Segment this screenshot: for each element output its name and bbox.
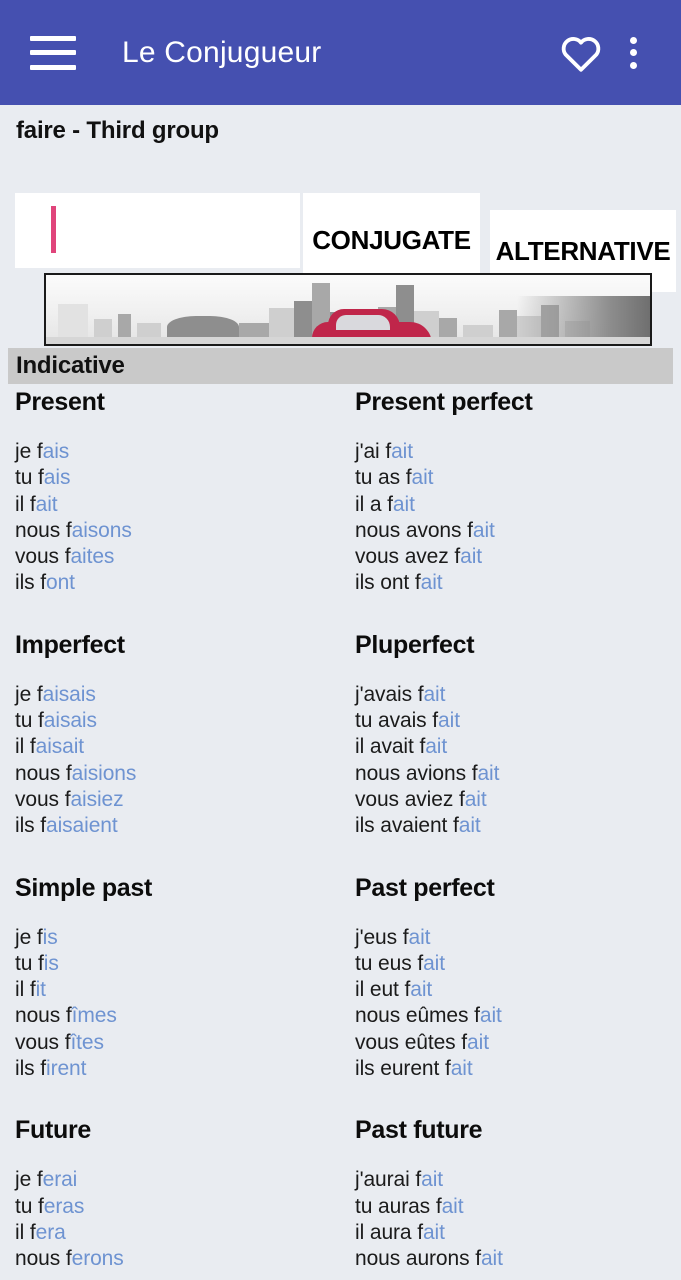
form-ending: ait <box>465 788 487 811</box>
form-stem: ils f <box>15 814 46 837</box>
conjugation-form: tu as fait <box>355 465 680 491</box>
hamburger-line <box>30 65 76 70</box>
form-stem: il f <box>15 493 36 516</box>
form-stem: il a f <box>355 493 393 516</box>
heart-icon <box>559 33 603 73</box>
form-ending: îtes <box>70 1031 103 1054</box>
form-ending: ait <box>423 952 445 975</box>
form-stem: tu f <box>15 466 44 489</box>
form-stem: ils f <box>15 1057 46 1080</box>
form-ending: ait <box>425 735 447 758</box>
conjugation-list: j'eus faittu eus faitil eut faitnous eûm… <box>355 925 680 1083</box>
conjugation-list: je faisaistu faisaisil faisaitnous faisi… <box>15 682 340 840</box>
tense-row: Future je feraitu ferasil feranous feron… <box>0 1116 681 1272</box>
conjugation-form: ils firent <box>15 1056 340 1082</box>
form-ending: ais <box>43 440 70 463</box>
conjugation-form: nous avions fait <box>355 761 680 787</box>
app-title: Le Conjugueur <box>122 36 321 70</box>
search-row: CONJUGATE ALTERNATIVE <box>0 145 681 250</box>
conjugation-form: ils faisaient <box>15 813 340 839</box>
conjugation-form: tu avais fait <box>355 708 680 734</box>
form-stem: nous eûmes f <box>355 1004 480 1027</box>
conjugation-form: nous eûmes fait <box>355 1003 680 1029</box>
kebab-dot <box>630 37 637 44</box>
form-ending: eras <box>44 1195 84 1218</box>
conjugation-form: il faisait <box>15 734 340 760</box>
form-ending: ait <box>481 1247 503 1270</box>
form-ending: irent <box>46 1057 86 1080</box>
form-ending: aisait <box>36 735 84 758</box>
kebab-menu-icon <box>618 35 648 71</box>
form-stem: vous f <box>15 545 70 568</box>
tense-title: Imperfect <box>15 631 340 660</box>
form-ending: ait <box>442 1195 464 1218</box>
tense-block-past-perfect: Past perfect j'eus faittu eus faitil eut… <box>340 874 680 1083</box>
form-stem: il f <box>15 735 36 758</box>
tense-row: Present je faistu faisil faitnous faison… <box>0 388 681 597</box>
block-spacer <box>0 840 681 874</box>
form-ending: aisais <box>44 709 97 732</box>
tense-title: Past perfect <box>355 874 680 903</box>
form-stem: vous f <box>15 788 70 811</box>
block-spacer <box>0 1082 681 1116</box>
tense-title: Past future <box>355 1116 680 1145</box>
form-stem: il f <box>15 978 36 1001</box>
form-stem: vous aviez f <box>355 788 465 811</box>
conjugation-form: je faisais <box>15 682 340 708</box>
form-ending: ait <box>459 814 481 837</box>
conjugation-form: il a fait <box>355 492 680 518</box>
overflow-menu-button[interactable] <box>607 27 659 79</box>
app-bar: Le Conjugueur <box>0 0 681 105</box>
conjugation-form: nous aurons fait <box>355 1246 680 1272</box>
form-stem: je f <box>15 440 43 463</box>
conjugation-form: tu fis <box>15 951 340 977</box>
conjugation-list: j'avais faittu avais faitil avait faitno… <box>355 682 680 840</box>
form-stem: il avait f <box>355 735 425 758</box>
conjugation-form: j'ai fait <box>355 439 680 465</box>
kebab-dot <box>630 49 637 56</box>
tense-block-imperfect: Imperfect je faisaistu faisaisil faisait… <box>0 631 340 840</box>
conjugation-list: je feraitu ferasil feranous ferons <box>15 1167 340 1272</box>
conjugation-form: nous faisions <box>15 761 340 787</box>
form-stem: tu auras f <box>355 1195 442 1218</box>
conjugation-list: j'aurai faittu auras faitil aura faitnou… <box>355 1167 680 1272</box>
form-ending: ait <box>409 926 431 949</box>
form-stem: ils f <box>15 571 46 594</box>
tense-title: Simple past <box>15 874 340 903</box>
conjugation-form: tu feras <box>15 1194 340 1220</box>
form-stem: nous f <box>15 1004 72 1027</box>
form-ending: it <box>36 978 46 1001</box>
form-stem: tu eus f <box>355 952 423 975</box>
form-stem: il eut f <box>355 978 410 1001</box>
form-stem: nous aurons f <box>355 1247 481 1270</box>
form-stem: nous f <box>15 519 72 542</box>
form-ending: ont <box>46 571 75 594</box>
tense-title: Future <box>15 1116 340 1145</box>
conjugation-form: tu fais <box>15 465 340 491</box>
form-ending: ait <box>412 466 434 489</box>
form-stem: j'eus f <box>355 926 409 949</box>
verb-heading: faire - Third group <box>0 105 681 145</box>
tense-row: Simple past je fistu fisil fitnous fîmes… <box>0 874 681 1083</box>
conjugation-form: ils font <box>15 570 340 596</box>
form-stem: ils ont f <box>355 571 421 594</box>
conjugation-list: j'ai faittu as faitil a faitnous avons f… <box>355 439 680 597</box>
conjugation-form: je fis <box>15 925 340 951</box>
conjugation-form: tu auras fait <box>355 1194 680 1220</box>
form-ending: ait <box>460 545 482 568</box>
conjugation-form: ils eurent fait <box>355 1056 680 1082</box>
advertisement-banner[interactable] <box>44 273 652 346</box>
form-stem: tu as f <box>355 466 412 489</box>
kebab-dot <box>630 62 637 69</box>
form-stem: nous f <box>15 762 72 785</box>
hamburger-line <box>30 36 76 41</box>
form-ending: aisiez <box>70 788 123 811</box>
form-ending: aisaient <box>46 814 118 837</box>
conjugation-form: ils avaient fait <box>355 813 680 839</box>
conjugation-form: il fit <box>15 977 340 1003</box>
verb-search-input[interactable] <box>15 193 300 268</box>
conjugation-form: il fait <box>15 492 340 518</box>
conjugation-form: nous avons fait <box>355 518 680 544</box>
form-stem: il aura f <box>355 1221 423 1244</box>
form-stem: je f <box>15 926 43 949</box>
form-stem: ils avaient f <box>355 814 459 837</box>
conjugation-form: il eut fait <box>355 977 680 1003</box>
form-stem: nous f <box>15 1247 72 1270</box>
form-ending: ait <box>36 493 58 516</box>
form-ending: ait <box>451 1057 473 1080</box>
form-ending: ait <box>480 1004 502 1027</box>
conjugation-form: nous fîmes <box>15 1003 340 1029</box>
form-stem: il f <box>15 1221 36 1244</box>
form-stem: j'aurai f <box>355 1168 421 1191</box>
conjugation-form: j'avais fait <box>355 682 680 708</box>
form-ending: aisais <box>43 683 96 706</box>
form-stem: vous avez f <box>355 545 460 568</box>
form-ending: ais <box>44 466 71 489</box>
form-ending: ait <box>423 683 445 706</box>
form-stem: vous f <box>15 1031 70 1054</box>
block-spacer <box>0 597 681 631</box>
tense-title: Pluperfect <box>355 631 680 660</box>
conjugation-form: vous avez fait <box>355 544 680 570</box>
form-ending: erai <box>43 1168 78 1191</box>
ad-ground <box>46 337 650 344</box>
tense-block-past-future: Past future j'aurai faittu auras faitil … <box>340 1116 680 1272</box>
form-ending: ait <box>410 978 432 1001</box>
tense-block-simple-past: Simple past je fistu fisil fitnous fîmes… <box>0 874 340 1083</box>
mood-label: Indicative <box>8 352 125 380</box>
conjugation-form: vous faisiez <box>15 787 340 813</box>
form-stem: je f <box>15 1168 43 1191</box>
tense-block-present: Present je faistu faisil faitnous faison… <box>0 388 340 597</box>
form-ending: ait <box>393 493 415 516</box>
conjugation-form: nous faisons <box>15 518 340 544</box>
form-ending: ait <box>438 709 460 732</box>
tense-title: Present perfect <box>355 388 680 417</box>
form-stem: vous eûtes f <box>355 1031 467 1054</box>
conjugation-form: vous aviez fait <box>355 787 680 813</box>
conjugation-form: j'aurai fait <box>355 1167 680 1193</box>
form-ending: ait <box>391 440 413 463</box>
form-stem: j'avais f <box>355 683 423 706</box>
conjugation-list: je fistu fisil fitnous fîmesvous fîtesil… <box>15 925 340 1083</box>
conjugation-area: Present je faistu faisil faitnous faison… <box>0 388 681 1273</box>
text-caret <box>51 206 56 253</box>
conjugation-form: je fais <box>15 439 340 465</box>
form-stem: j'ai f <box>355 440 391 463</box>
conjugation-form: il fera <box>15 1220 340 1246</box>
tense-block-present-perfect: Present perfect j'ai faittu as faitil a … <box>340 388 680 597</box>
form-ending: aisions <box>72 762 137 785</box>
form-stem: ils eurent f <box>355 1057 451 1080</box>
form-ending: ait <box>467 1031 489 1054</box>
tense-block-pluperfect: Pluperfect j'avais faittu avais faitil a… <box>340 631 680 840</box>
conjugation-form: je ferai <box>15 1167 340 1193</box>
form-ending: aisons <box>72 519 132 542</box>
tense-block-future: Future je feraitu ferasil feranous feron… <box>0 1116 340 1272</box>
form-ending: ait <box>421 571 443 594</box>
tense-row: Imperfect je faisaistu faisaisil faisait… <box>0 631 681 840</box>
mood-header-indicative: Indicative <box>8 348 673 384</box>
form-ending: ait <box>473 519 495 542</box>
conjugation-form: vous fîtes <box>15 1030 340 1056</box>
form-stem: tu f <box>15 1195 44 1218</box>
form-ending: ait <box>421 1168 443 1191</box>
form-stem: tu avais f <box>355 709 438 732</box>
form-ending: is <box>43 926 58 949</box>
form-ending: is <box>44 952 59 975</box>
form-stem: nous avions f <box>355 762 477 785</box>
conjugation-list: je faistu faisil faitnous faisonsvous fa… <box>15 439 340 597</box>
conjugation-form: il aura fait <box>355 1220 680 1246</box>
conjugation-form: tu faisais <box>15 708 340 734</box>
form-stem: tu f <box>15 952 44 975</box>
conjugation-form: j'eus fait <box>355 925 680 951</box>
form-stem: tu f <box>15 709 44 732</box>
form-ending: era <box>36 1221 66 1244</box>
conjugation-form: il avait fait <box>355 734 680 760</box>
form-ending: aites <box>70 545 114 568</box>
conjugation-form: vous faites <box>15 544 340 570</box>
form-ending: ait <box>423 1221 445 1244</box>
form-ending: îmes <box>72 1004 117 1027</box>
form-stem: je f <box>15 683 43 706</box>
tense-title: Present <box>15 388 340 417</box>
hamburger-menu-icon[interactable] <box>30 36 76 70</box>
favorite-button[interactable] <box>555 27 607 79</box>
conjugation-form: tu eus fait <box>355 951 680 977</box>
form-stem: nous avons f <box>355 519 473 542</box>
form-ending: erons <box>72 1247 124 1270</box>
conjugation-form: ils ont fait <box>355 570 680 596</box>
hamburger-line <box>30 50 76 55</box>
form-ending: ait <box>477 762 499 785</box>
conjugation-form: vous eûtes fait <box>355 1030 680 1056</box>
conjugation-form: nous ferons <box>15 1246 340 1272</box>
